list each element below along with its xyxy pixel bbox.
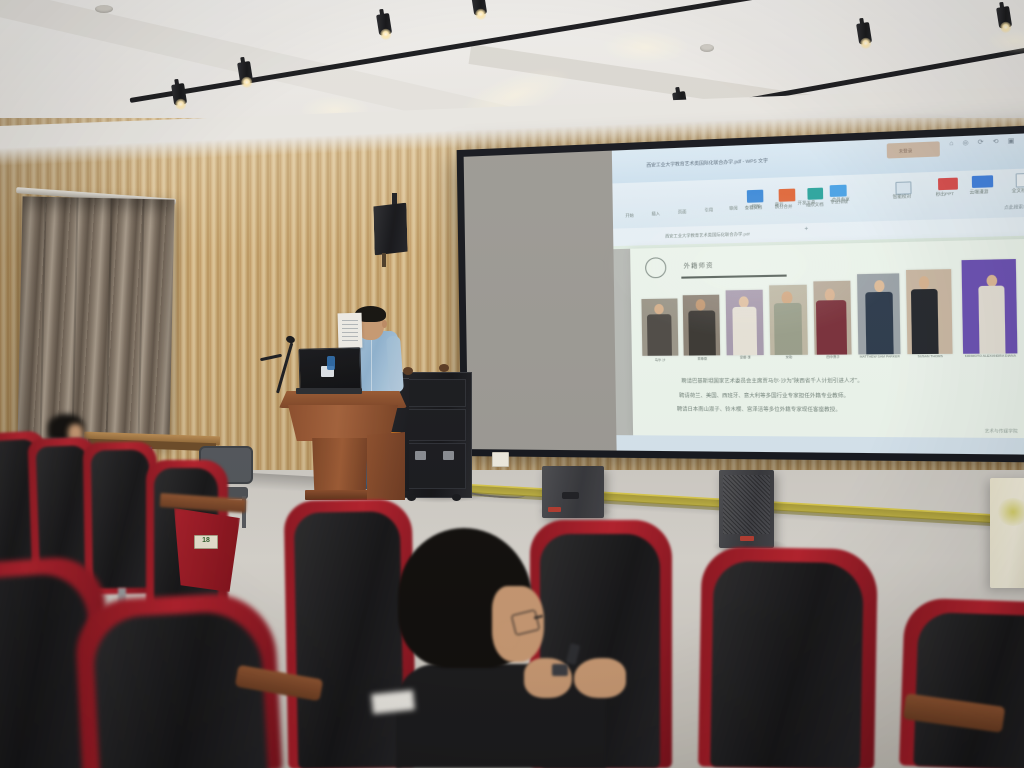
projector-screen[interactable]: 西安工业大学教育艺术类国际化联合办学.pdf - WPS 文字 未登录 ⌂ ◎ … [457,123,1024,463]
slide-page: 外籍师资 [630,238,1024,438]
slide-body-line: 聘请巴基斯坦国家艺术委员会主席贾马尔·沙为"陕西省千人计划引进人才"。 [681,379,863,385]
ribbon-icon-roam[interactable] [972,176,994,188]
light-pool [600,30,690,64]
tab-section[interactable]: 章节 [775,201,784,207]
cabinet-decal [996,498,1024,526]
power-outlet[interactable] [492,452,509,467]
laptop-keyboard-deck [296,388,362,394]
ribbon-icon-orange[interactable] [779,189,796,202]
window-title: 西安工业大学教育艺术类国际化联合办学.pdf - WPS 文字 [646,158,768,168]
faculty-photo [769,285,808,354]
search-box[interactable]: 点此搜索命令 [1004,203,1024,209]
smoke-detector-icon [700,44,714,52]
wall-notice-lines [342,320,358,342]
new-tab-button[interactable]: + [804,227,808,232]
slide-body-line: 聘请荷兰、美国、西班牙、意大利等多国行业专家担任外籍专业教师。 [679,394,849,399]
ribbon-icon-red[interactable] [938,178,957,190]
faculty-photo [726,290,764,355]
faculty-photo [683,294,720,355]
wall-mounted-speaker [373,203,407,256]
tab-start[interactable]: 开始 [625,213,633,218]
slide-title-underline [682,275,787,279]
held-small-object [552,664,568,676]
document-tab-label[interactable]: 西安工业大学教育艺术类国际化联合办学.pdf [665,231,750,238]
podium-water-cup [327,356,335,370]
tab-devtools[interactable]: 开发工具 [798,199,816,205]
presenter-ear [382,320,387,328]
tab-member[interactable]: 会员专享 [832,197,850,203]
faculty-photo [907,269,953,354]
shirt-placket [371,334,372,400]
rack-knob [439,364,449,372]
podium-side-shelf [367,432,405,500]
seat-number-plate: 18 [194,535,218,549]
speaker-bracket [392,193,397,205]
rack-caster [407,494,416,501]
tab-reference[interactable]: 引用 [704,207,713,212]
student-hand-right [574,658,626,698]
seat-cushion-face[interactable] [91,450,151,589]
ribbon-label: 云端漫游 [969,189,988,195]
quick-access-icons[interactable]: ⌂ ◎ ⟳ ⟲ ▣ [949,139,1018,147]
photo-caption: 马尔·沙 [642,358,678,362]
photo-caption: 米勒 [770,355,808,359]
speaker-mount-pole [382,253,386,267]
wps-status-bar [616,436,1024,456]
account-badge[interactable] [887,142,940,159]
photo-caption: MATTHEW SAM PARKER [854,355,905,360]
circle-monogram-logo [645,258,666,279]
faculty-photo [857,274,900,354]
faculty-photo [961,259,1017,353]
slide-body-line: 聘请日本南山淑子、铃木樱、宫泽洁等多位外籍专家现任客座教授。 [677,408,841,414]
tab-view[interactable]: 视图 [752,203,761,209]
ribbon-label: 智能校对 [893,194,911,200]
podium-base [305,490,375,500]
seat-cushion-face[interactable] [92,610,268,768]
ceiling-vent-icon [95,5,113,13]
account-badge-label: 未登录 [899,147,913,153]
subwoofer-speaker [542,466,604,518]
tab-review[interactable]: 审阅 [729,205,738,211]
seat-cushion-face[interactable] [294,511,404,768]
flight-case-equipment-rack [402,372,472,498]
ribbon-icon-search-doc[interactable] [1016,173,1024,188]
tab-page[interactable]: 页面 [678,209,687,214]
lecture-hall-photo: 西安工业大学教育艺术类国际化联合办学.pdf - WPS 文字 未登录 ⌂ ◎ … [0,0,1024,768]
slide-title: 外籍师资 [683,260,713,270]
seat-cushion-face[interactable] [913,612,1024,768]
rack-caster [452,494,461,501]
podium-column [311,438,369,496]
floor-monitor-speaker [719,470,774,548]
ribbon-label: 全文检索 [1012,187,1024,193]
screen-unused-area [464,151,617,451]
ribbon-label: 秒出PPT [936,191,954,197]
cream-display-cabinet[interactable] [990,478,1024,588]
rack-knob [403,367,413,375]
photo-caption: 索菲亚 [684,357,720,361]
ribbon-icon-blue[interactable] [747,190,763,202]
window-curtain[interactable] [17,196,174,447]
ribbon-icon-lightblue[interactable] [830,185,847,198]
slide-footer: 艺术与传媒学院 [985,428,1018,434]
tab-insert[interactable]: 插入 [651,211,660,216]
seat-cushion-face[interactable] [710,561,864,768]
ribbon-icon-teal[interactable] [807,187,823,200]
photo-caption: KIRIMOTO ALEXANDRA DIANA [961,354,1020,359]
photo-caption: 安娜·李 [727,356,764,360]
photo-caption: 田中惠子 [814,355,852,359]
faculty-photo [641,299,678,356]
projected-image: 西安工业大学教育艺术类国际化联合办学.pdf - WPS 文字 未登录 ⌂ ◎ … [611,131,1024,455]
photo-caption: SUSAN THOMS [905,354,956,359]
seat-side-panel [174,508,240,592]
faculty-photo [813,280,852,354]
